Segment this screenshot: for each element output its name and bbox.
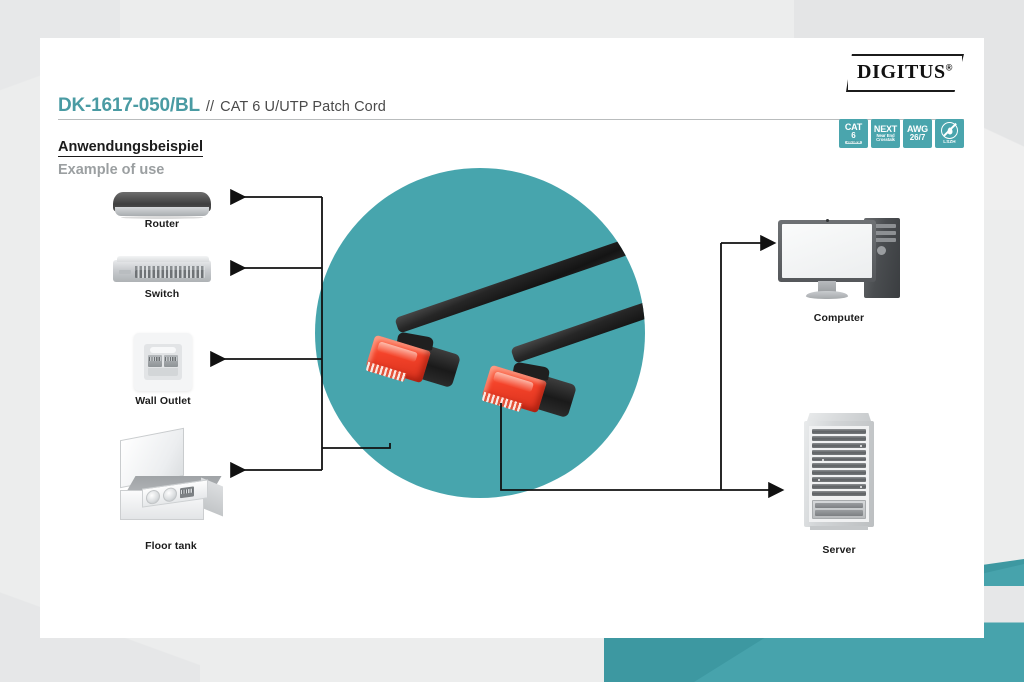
product-title-row: DK-1617-050/BL//CAT 6 U/UTP Patch Cord	[58, 95, 964, 117]
section-heading-en: Example of use	[58, 162, 164, 178]
product-name: CAT 6 U/UTP Patch Cord	[220, 99, 386, 115]
next-badge-sub: Crosstalk	[876, 138, 895, 142]
server-front-panel	[809, 426, 869, 522]
section-heading-de: Anwendungsbeispiel	[58, 139, 203, 157]
rj45-connector-right	[478, 358, 573, 425]
server-bay	[812, 457, 866, 462]
logo-wordmark: DIGITUS	[857, 61, 946, 83]
server-bay	[812, 463, 866, 468]
label-floor-tank: Floor tank	[118, 540, 224, 552]
server-bay	[812, 443, 866, 448]
label-switch: Switch	[113, 288, 211, 300]
device-switch	[113, 256, 211, 286]
product-sku: DK-1617-050/BL	[58, 95, 200, 116]
product-image	[315, 168, 645, 498]
server-chassis	[804, 421, 874, 527]
webcam-icon	[826, 219, 829, 222]
title-divider	[58, 119, 964, 120]
switch-top-panel	[117, 256, 209, 262]
device-computer	[778, 218, 900, 300]
monitor-stand-base	[806, 291, 848, 299]
label-server: Server	[804, 544, 874, 556]
server-bay	[812, 436, 866, 441]
rj45-jack	[164, 355, 178, 367]
power-button-icon	[877, 246, 886, 255]
no-flame-icon	[941, 122, 958, 139]
cat6-badge-sub: 250 MHz	[845, 141, 863, 145]
power-socket	[146, 489, 160, 505]
server-bay	[812, 484, 866, 489]
power-socket	[163, 486, 177, 502]
cat6-badge-line2: 6	[851, 132, 855, 140]
switch-led-panel	[119, 270, 131, 274]
server-bay	[812, 477, 866, 482]
product-separator: //	[206, 99, 214, 115]
cat6-badge: CAT 6 250 MHz	[839, 119, 868, 148]
logo-text: DIGITUS®	[846, 61, 964, 84]
server-drive-module	[812, 500, 866, 519]
wall-outlet-jacks	[148, 355, 178, 367]
drive-slot	[815, 510, 863, 516]
label-router: Router	[113, 218, 211, 230]
awg-badge: AWG 26/7	[903, 119, 932, 148]
lszh-badge-sub: LSZH	[943, 140, 955, 145]
server-bay	[812, 491, 866, 496]
label-wall-outlet: Wall Outlet	[113, 395, 213, 407]
computer-monitor	[778, 220, 876, 282]
lszh-badge: LSZH	[935, 119, 964, 148]
logo-registered-icon: ®	[946, 62, 953, 72]
next-badge: NEXT Near End Crosstalk	[871, 119, 900, 148]
wall-outlet-label-slot	[150, 347, 176, 353]
server-bay	[812, 470, 866, 475]
server-bay	[812, 429, 866, 434]
rj45-connector-left	[362, 328, 457, 395]
data-outlet	[180, 486, 194, 498]
device-floor-tank	[118, 434, 224, 524]
label-computer: Computer	[778, 312, 900, 324]
datasheet-page: DIGITUS® DK-1617-050/BL//CAT 6 U/UTP Pat…	[0, 0, 1024, 682]
digitus-logo: DIGITUS®	[846, 54, 964, 92]
wall-outlet-lower-trim	[148, 368, 178, 376]
device-wall-outlet	[134, 333, 192, 391]
device-router	[113, 186, 211, 220]
server-bay	[812, 450, 866, 455]
device-server	[804, 412, 874, 532]
certification-badges: CAT 6 250 MHz NEXT Near End Crosstalk AW…	[839, 119, 964, 148]
awg-badge-line2: 26/7	[910, 134, 926, 142]
monitor-screen	[782, 224, 872, 278]
switch-port-row-lower	[135, 270, 205, 278]
router-base	[115, 207, 209, 216]
server-base	[810, 526, 868, 530]
rj45-jack	[148, 355, 162, 367]
drive-slot	[815, 503, 863, 509]
